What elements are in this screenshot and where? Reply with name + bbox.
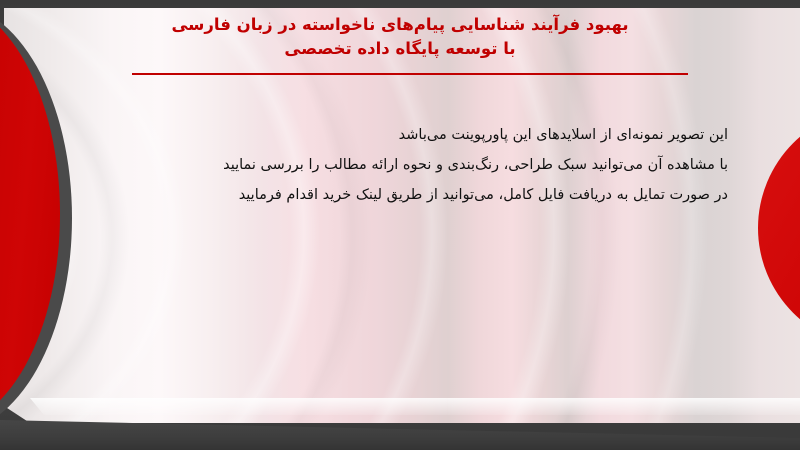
body-line-3: در صورت تمایل به دریافت فایل کامل، می‌تو… (68, 180, 728, 210)
slide-title-line-2: با توسعه پایگاه داده تخصصی (80, 37, 720, 61)
slide-title: بهبود فرآیند شناسایی پیام‌های ناخواسته د… (80, 13, 720, 61)
presentation-slide: بهبود فرآیند شناسایی پیام‌های ناخواسته د… (0, 0, 800, 450)
title-underline-rule (132, 73, 688, 75)
slide-title-line-1: بهبود فرآیند شناسایی پیام‌های ناخواسته د… (80, 13, 720, 37)
slide-body-text: این تصویر نمونه‌ای از اسلایدهای این پاور… (68, 120, 728, 210)
body-line-1: این تصویر نمونه‌ای از اسلایدهای این پاور… (68, 120, 728, 150)
body-line-2: با مشاهده آن می‌توانید سبک طراحی، رنگ‌بن… (68, 150, 728, 180)
slide-content-panel (0, 8, 800, 423)
background-arc-bands (0, 8, 800, 423)
